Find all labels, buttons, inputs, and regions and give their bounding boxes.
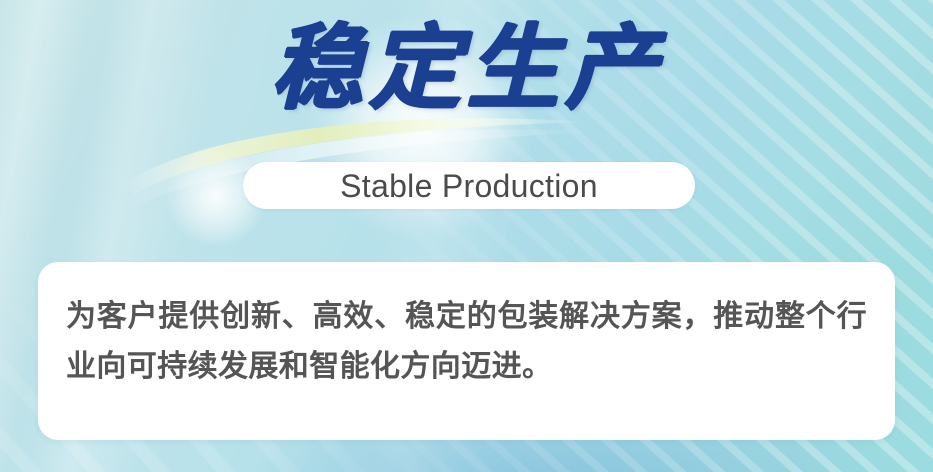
description-text: 为客户提供创新、高效、稳定的包装解决方案，推动整个行业向可持续发展和智能化方向迈…	[66, 292, 867, 392]
stable-production-banner: 稳定生产 Stable Production 为客户提供创新、高效、稳定的包装解…	[0, 0, 933, 472]
subtitle-pill: Stable Production	[243, 162, 695, 209]
subtitle-text: Stable Production	[340, 170, 598, 202]
page-title: 稳定生产	[0, 18, 933, 121]
description-card: 为客户提供创新、高效、稳定的包装解决方案，推动整个行业向可持续发展和智能化方向迈…	[38, 262, 895, 440]
